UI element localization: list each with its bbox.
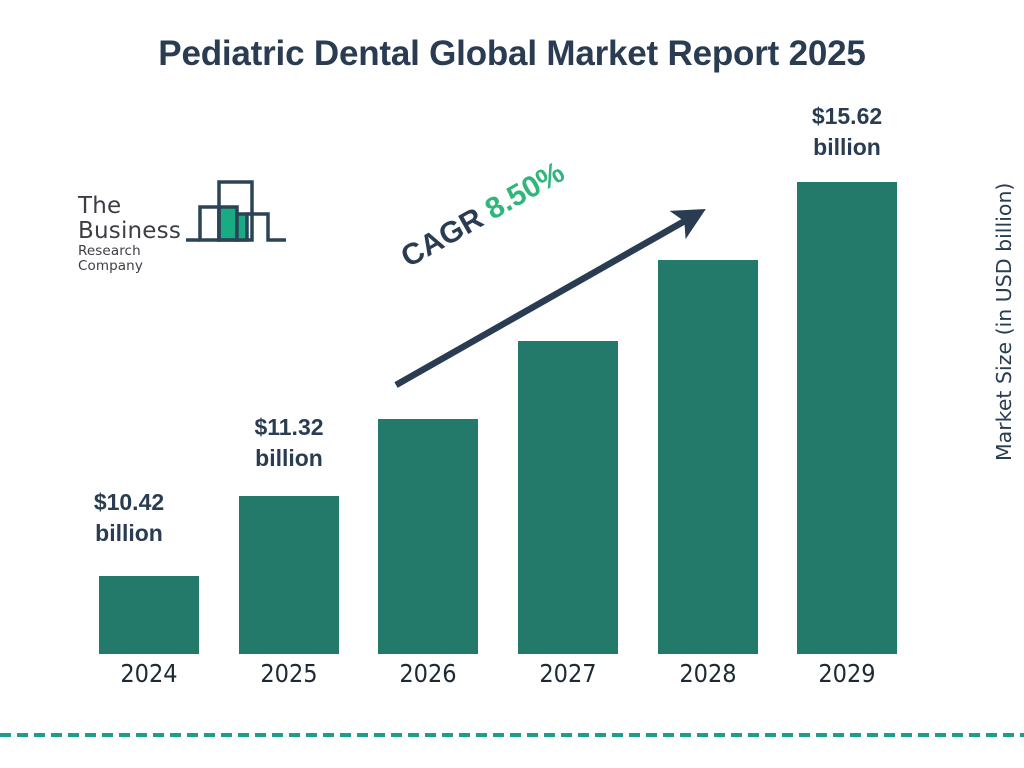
bar-value-2025: $11.32 billion	[199, 412, 379, 474]
bar-value-2029-unit: billion	[757, 132, 937, 163]
tick-label-2029: 2029	[757, 659, 937, 689]
bar-value-2029: $15.62 billion	[757, 101, 937, 163]
bar-value-2025-unit: billion	[199, 443, 379, 474]
bar-2025[interactable]	[239, 496, 339, 654]
y-axis-title: Market Size (in USD billion)	[992, 211, 1020, 461]
bar-2029[interactable]	[797, 182, 897, 654]
bar-value-2024-amount: $10.42	[39, 487, 219, 518]
bar-2024[interactable]	[99, 576, 199, 654]
bar-value-2024: $10.42 billion	[39, 487, 219, 549]
chart-canvas: Pediatric Dental Global Market Report 20…	[0, 0, 1024, 768]
cagr-growth-arrow-icon	[380, 185, 710, 400]
bar-value-2029-amount: $15.62	[757, 101, 937, 132]
bar-2026[interactable]	[378, 419, 478, 654]
bar-value-2025-amount: $11.32	[199, 412, 379, 443]
bar-value-2024-unit: billion	[39, 518, 219, 549]
footer-divider	[0, 733, 1024, 737]
